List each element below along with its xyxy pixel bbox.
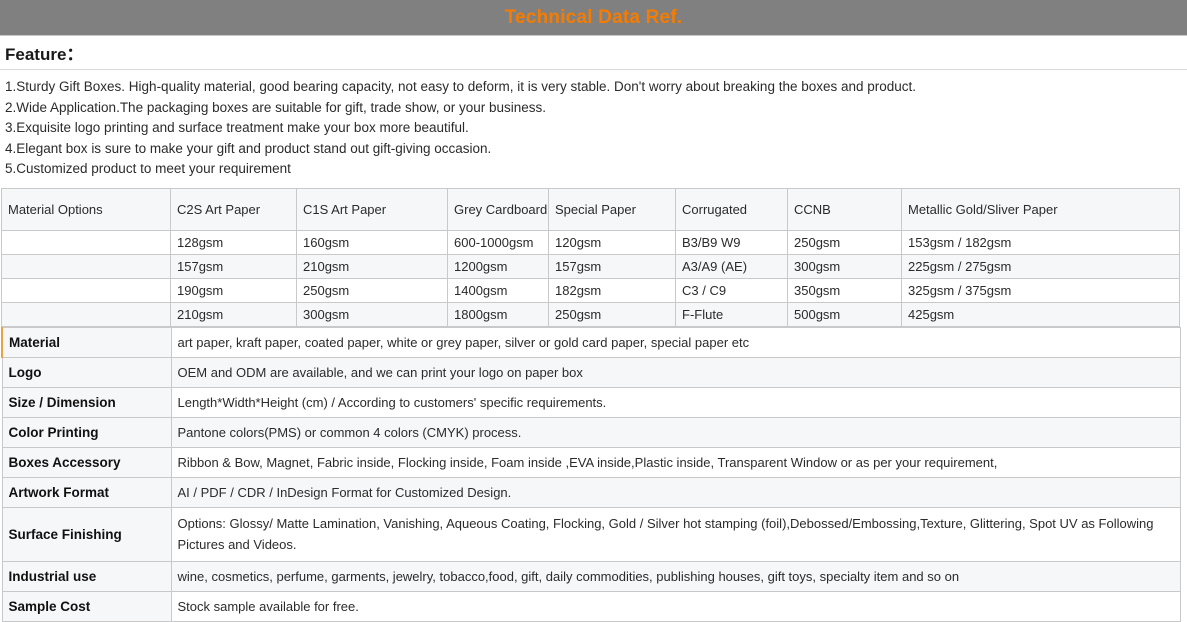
spec-label: Material: [2, 327, 171, 357]
spec-label: Size / Dimension: [2, 387, 171, 417]
table-row: 157gsm 210gsm 1200gsm 157gsm A3/A9 (AE) …: [2, 254, 1180, 278]
table-cell: 190gsm: [171, 278, 297, 302]
feature-line: 4.Elegant box is sure to make your gift …: [5, 139, 1182, 160]
spec-row-industrial-use: Industrial use wine, cosmetics, perfume,…: [2, 561, 1180, 591]
table-cell: 128gsm: [171, 230, 297, 254]
feature-line: 3.Exquisite logo printing and surface tr…: [5, 118, 1182, 139]
table-cell: 300gsm: [788, 254, 902, 278]
spec-label: Color Printing: [2, 417, 171, 447]
table-cell: C3 / C9: [676, 278, 788, 302]
material-options-table: Material Options C2S Art Paper C1S Art P…: [1, 188, 1180, 327]
column-header-metallic-paper: Metallic Gold/Sliver Paper: [902, 188, 1180, 230]
table-cell: 250gsm: [297, 278, 448, 302]
spec-value: AI / PDF / CDR / InDesign Format for Cus…: [171, 477, 1180, 507]
table-cell: [2, 230, 171, 254]
spec-value: Pantone colors(PMS) or common 4 colors (…: [171, 417, 1180, 447]
table-cell: 120gsm: [549, 230, 676, 254]
column-header-c1s-art-paper: C1S Art Paper: [297, 188, 448, 230]
column-header-ccnb: CCNB: [788, 188, 902, 230]
table-cell: 425gsm: [902, 302, 1180, 326]
feature-line: 5.Customized product to meet your requir…: [5, 159, 1182, 180]
spec-label: Industrial use: [2, 561, 171, 591]
technical-data-sheet: Technical Data Ref. Feature： 1.Sturdy Gi…: [0, 0, 1187, 620]
spec-label: Logo: [2, 357, 171, 387]
spec-value: OEM and ODM are available, and we can pr…: [171, 357, 1180, 387]
feature-list: 1.Sturdy Gift Boxes. High-quality materi…: [0, 70, 1187, 188]
table-cell: [2, 302, 171, 326]
spec-row-logo: Logo OEM and ODM are available, and we c…: [2, 357, 1180, 387]
column-header-grey-cardboard: Grey Cardboard: [448, 188, 549, 230]
table-row: 190gsm 250gsm 1400gsm 182gsm C3 / C9 350…: [2, 278, 1180, 302]
spec-value: Ribbon & Bow, Magnet, Fabric inside, Flo…: [171, 447, 1180, 477]
table-cell: 250gsm: [788, 230, 902, 254]
table-cell: [2, 278, 171, 302]
spec-value: Length*Width*Height (cm) / According to …: [171, 387, 1180, 417]
spec-row-boxes-accessory: Boxes Accessory Ribbon & Bow, Magnet, Fa…: [2, 447, 1180, 477]
spec-row-artwork-format: Artwork Format AI / PDF / CDR / InDesign…: [2, 477, 1180, 507]
spec-row-size-dimension: Size / Dimension Length*Width*Height (cm…: [2, 387, 1180, 417]
table-header-row: Material Options C2S Art Paper C1S Art P…: [2, 188, 1180, 230]
page-title: Technical Data Ref.: [505, 7, 683, 29]
table-row: 210gsm 300gsm 1800gsm 250gsm F-Flute 500…: [2, 302, 1180, 326]
table-cell: 182gsm: [549, 278, 676, 302]
feature-line: 1.Sturdy Gift Boxes. High-quality materi…: [5, 77, 1182, 98]
table-row: 128gsm 160gsm 600-1000gsm 120gsm B3/B9 W…: [2, 230, 1180, 254]
spec-value: wine, cosmetics, perfume, garments, jewe…: [171, 561, 1180, 591]
spec-value: art paper, kraft paper, coated paper, wh…: [171, 327, 1180, 357]
table-cell: [2, 254, 171, 278]
table-cell: 153gsm / 182gsm: [902, 230, 1180, 254]
column-header-special-paper: Special Paper: [549, 188, 676, 230]
table-cell: 157gsm: [549, 254, 676, 278]
table-cell: 210gsm: [297, 254, 448, 278]
table-cell: 600-1000gsm: [448, 230, 549, 254]
spec-label: Artwork Format: [2, 477, 171, 507]
specification-table: Material art paper, kraft paper, coated …: [1, 327, 1181, 622]
feature-line: 2.Wide Application.The packaging boxes a…: [5, 98, 1182, 119]
table-cell: 225gsm / 275gsm: [902, 254, 1180, 278]
spec-label: Surface Finishing: [2, 507, 171, 561]
spec-value: Stock sample available for free.: [171, 591, 1180, 621]
table-cell: 1200gsm: [448, 254, 549, 278]
table-cell: 250gsm: [549, 302, 676, 326]
feature-heading-row: Feature：: [0, 36, 1187, 70]
spec-row-material: Material art paper, kraft paper, coated …: [2, 327, 1180, 357]
title-bar: Technical Data Ref.: [0, 0, 1187, 36]
table-cell: B3/B9 W9: [676, 230, 788, 254]
spec-label: Boxes Accessory: [2, 447, 171, 477]
table-cell: 157gsm: [171, 254, 297, 278]
table-cell: 1800gsm: [448, 302, 549, 326]
spec-row-surface-finishing: Surface Finishing Options: Glossy/ Matte…: [2, 507, 1180, 561]
column-header-corrugated: Corrugated: [676, 188, 788, 230]
table-cell: 300gsm: [297, 302, 448, 326]
spec-row-sample-cost: Sample Cost Stock sample available for f…: [2, 591, 1180, 621]
column-header-c2s-art-paper: C2S Art Paper: [171, 188, 297, 230]
table-cell: 325gsm / 375gsm: [902, 278, 1180, 302]
table-cell: 160gsm: [297, 230, 448, 254]
table-cell: F-Flute: [676, 302, 788, 326]
table-cell: A3/A9 (AE): [676, 254, 788, 278]
spec-row-color-printing: Color Printing Pantone colors(PMS) or co…: [2, 417, 1180, 447]
table-cell: 1400gsm: [448, 278, 549, 302]
table-cell: 210gsm: [171, 302, 297, 326]
feature-heading-label: Feature：: [5, 40, 83, 65]
column-header-material-options: Material Options: [2, 188, 171, 230]
spec-label: Sample Cost: [2, 591, 171, 621]
table-cell: 350gsm: [788, 278, 902, 302]
spec-value: Options: Glossy/ Matte Lamination, Vanis…: [171, 507, 1180, 561]
table-cell: 500gsm: [788, 302, 902, 326]
